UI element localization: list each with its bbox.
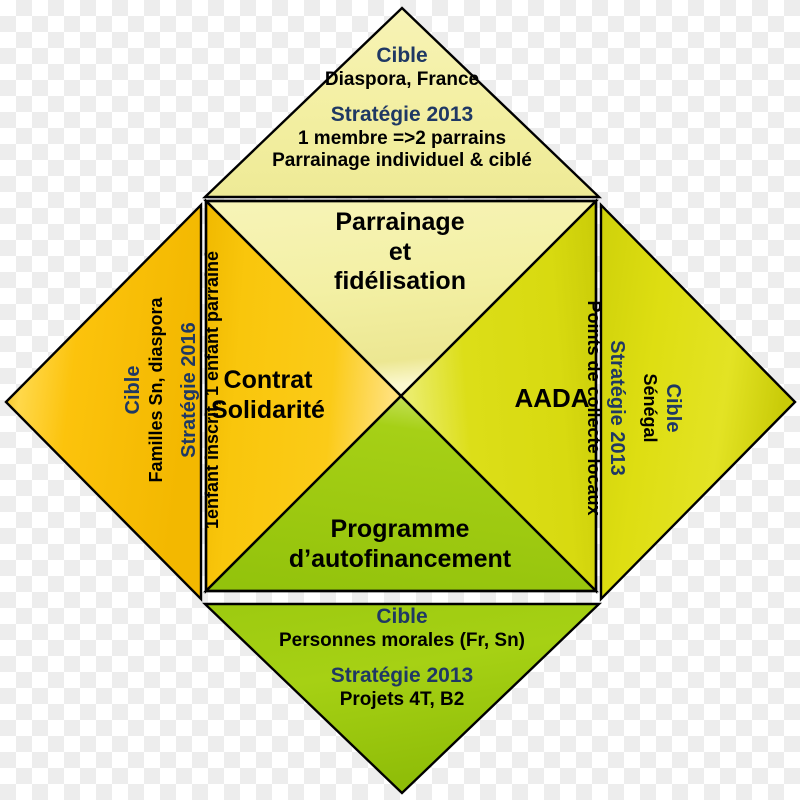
outer-triangle-bottom[interactable]: [205, 604, 599, 793]
diagram-canvas: Cible Diaspora, France Stratégie 2013 1 …: [0, 0, 800, 800]
outer-triangle-right[interactable]: [601, 205, 795, 599]
outer-triangle-top[interactable]: [205, 8, 599, 197]
outer-triangle-left[interactable]: [6, 205, 201, 599]
diamond-diagram-graphic: [0, 0, 800, 800]
